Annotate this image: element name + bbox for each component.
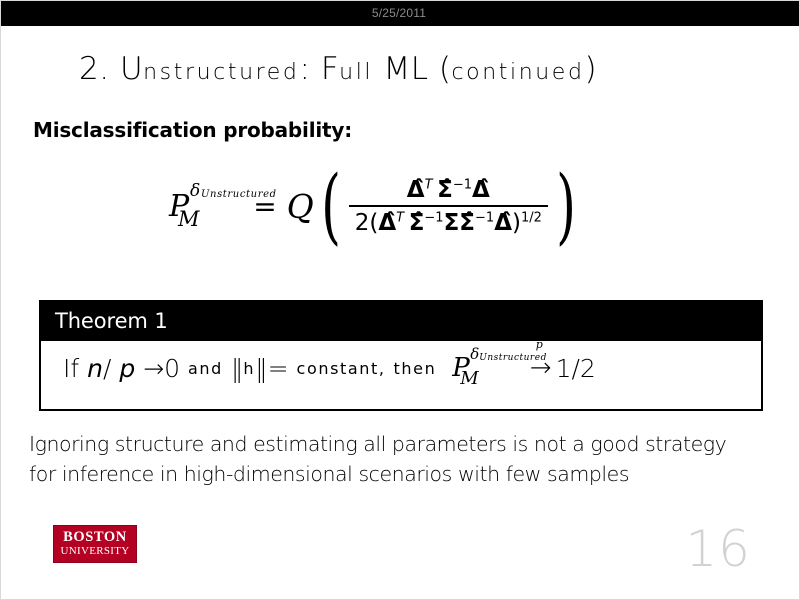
- equation-paren-open: (: [321, 177, 341, 236]
- theorem-norm-close: ‖: [255, 354, 268, 383]
- theorem-heading: Theorem 1: [41, 302, 761, 341]
- header-date: 5/25/2011: [0, 1, 799, 26]
- theorem-body: If n / p → 0 and ‖ h ‖ = constant,: [41, 341, 761, 409]
- equation-lhs: P M δ Unstructured: [169, 192, 253, 222]
- theorem-zero: 0: [164, 354, 180, 383]
- title-full-cap: F: [321, 51, 339, 87]
- theorem-result-value: 1/2: [556, 354, 596, 383]
- theorem-arrow: →: [143, 354, 164, 383]
- equation-lhs-superscript-word: Unstructured: [201, 190, 277, 200]
- equation-q-function: Q: [287, 187, 314, 226]
- title-paren-close: ): [585, 51, 598, 87]
- equation-denominator: 2(Δ̂T Σ̂−1ΣΣ̂−1Δ̂)1/2: [349, 207, 548, 236]
- page-title: 2. Unstructured: Full ML (continued): [79, 51, 597, 87]
- logo-line-university: UNIVERSITY: [61, 545, 130, 558]
- equation-lhs-superscript-delta: δ: [190, 183, 200, 200]
- body-line-1: Ignoring structure and estimating all pa…: [29, 429, 749, 459]
- theorem-slash: /: [103, 354, 111, 383]
- title-full-rest: ull: [339, 60, 373, 85]
- theorem-result-term: P M δ Unstructured: [452, 355, 526, 381]
- page-number: 16: [685, 520, 751, 578]
- equation-paren-close: ): [556, 177, 576, 236]
- theorem-if: If: [63, 354, 79, 383]
- theorem-convergence-arrow: p →: [530, 353, 552, 383]
- title-unstructured-cap: U: [120, 51, 143, 87]
- equation-fraction: Δ̂T Σ̂−1Δ̂ 2(Δ̂T Σ̂−1ΣΣ̂−1Δ̂)1/2: [349, 177, 548, 236]
- body-line-2: for inference in high-dimensional scenar…: [29, 459, 749, 489]
- theorem-arrow-label: p: [536, 338, 543, 351]
- equation-lhs-subscript: M: [178, 209, 200, 230]
- theorem-result-superscript-delta: δ: [470, 347, 479, 362]
- title-paren-open: (: [439, 51, 452, 87]
- theorem-equals: =: [268, 354, 289, 383]
- title-part-number: 2.: [79, 51, 110, 87]
- theorem-constant: constant,: [297, 359, 386, 378]
- logo-line-boston: BOSTON: [63, 530, 127, 545]
- misclassification-equation: P M δ Unstructured = Q ( Δ̂T Σ̂−1Δ̂ 2(Δ̂…: [169, 177, 582, 236]
- title-continued: continued: [451, 60, 584, 85]
- theorem-h: h: [243, 359, 255, 378]
- theorem-statement: If n / p → 0 and ‖ h ‖ = constant,: [63, 353, 596, 383]
- theorem-n: n: [87, 354, 103, 383]
- theorem-then: then: [394, 359, 437, 378]
- theorem-norm-open: ‖: [231, 354, 244, 383]
- boston-university-logo: BOSTON UNIVERSITY: [53, 525, 137, 563]
- section-label: Misclassification probability:: [33, 118, 352, 142]
- theorem-result-subscript: M: [460, 370, 478, 388]
- body-paragraph: Ignoring structure and estimating all pa…: [29, 429, 749, 489]
- equation-numerator: Δ̂T Σ̂−1Δ̂: [399, 177, 498, 205]
- theorem-box: Theorem 1 If n / p → 0 and ‖ h ‖ =: [39, 300, 763, 411]
- title-ml: ML: [383, 51, 428, 87]
- theorem-and: and: [188, 359, 223, 378]
- theorem-arrow-glyph: →: [530, 353, 552, 383]
- title-colon: :: [300, 51, 311, 87]
- title-unstructured-rest: nstructured: [143, 60, 299, 85]
- theorem-p: p: [119, 354, 135, 383]
- slide: 5/25/2011 2. Unstructured: Full ML (cont…: [0, 0, 800, 600]
